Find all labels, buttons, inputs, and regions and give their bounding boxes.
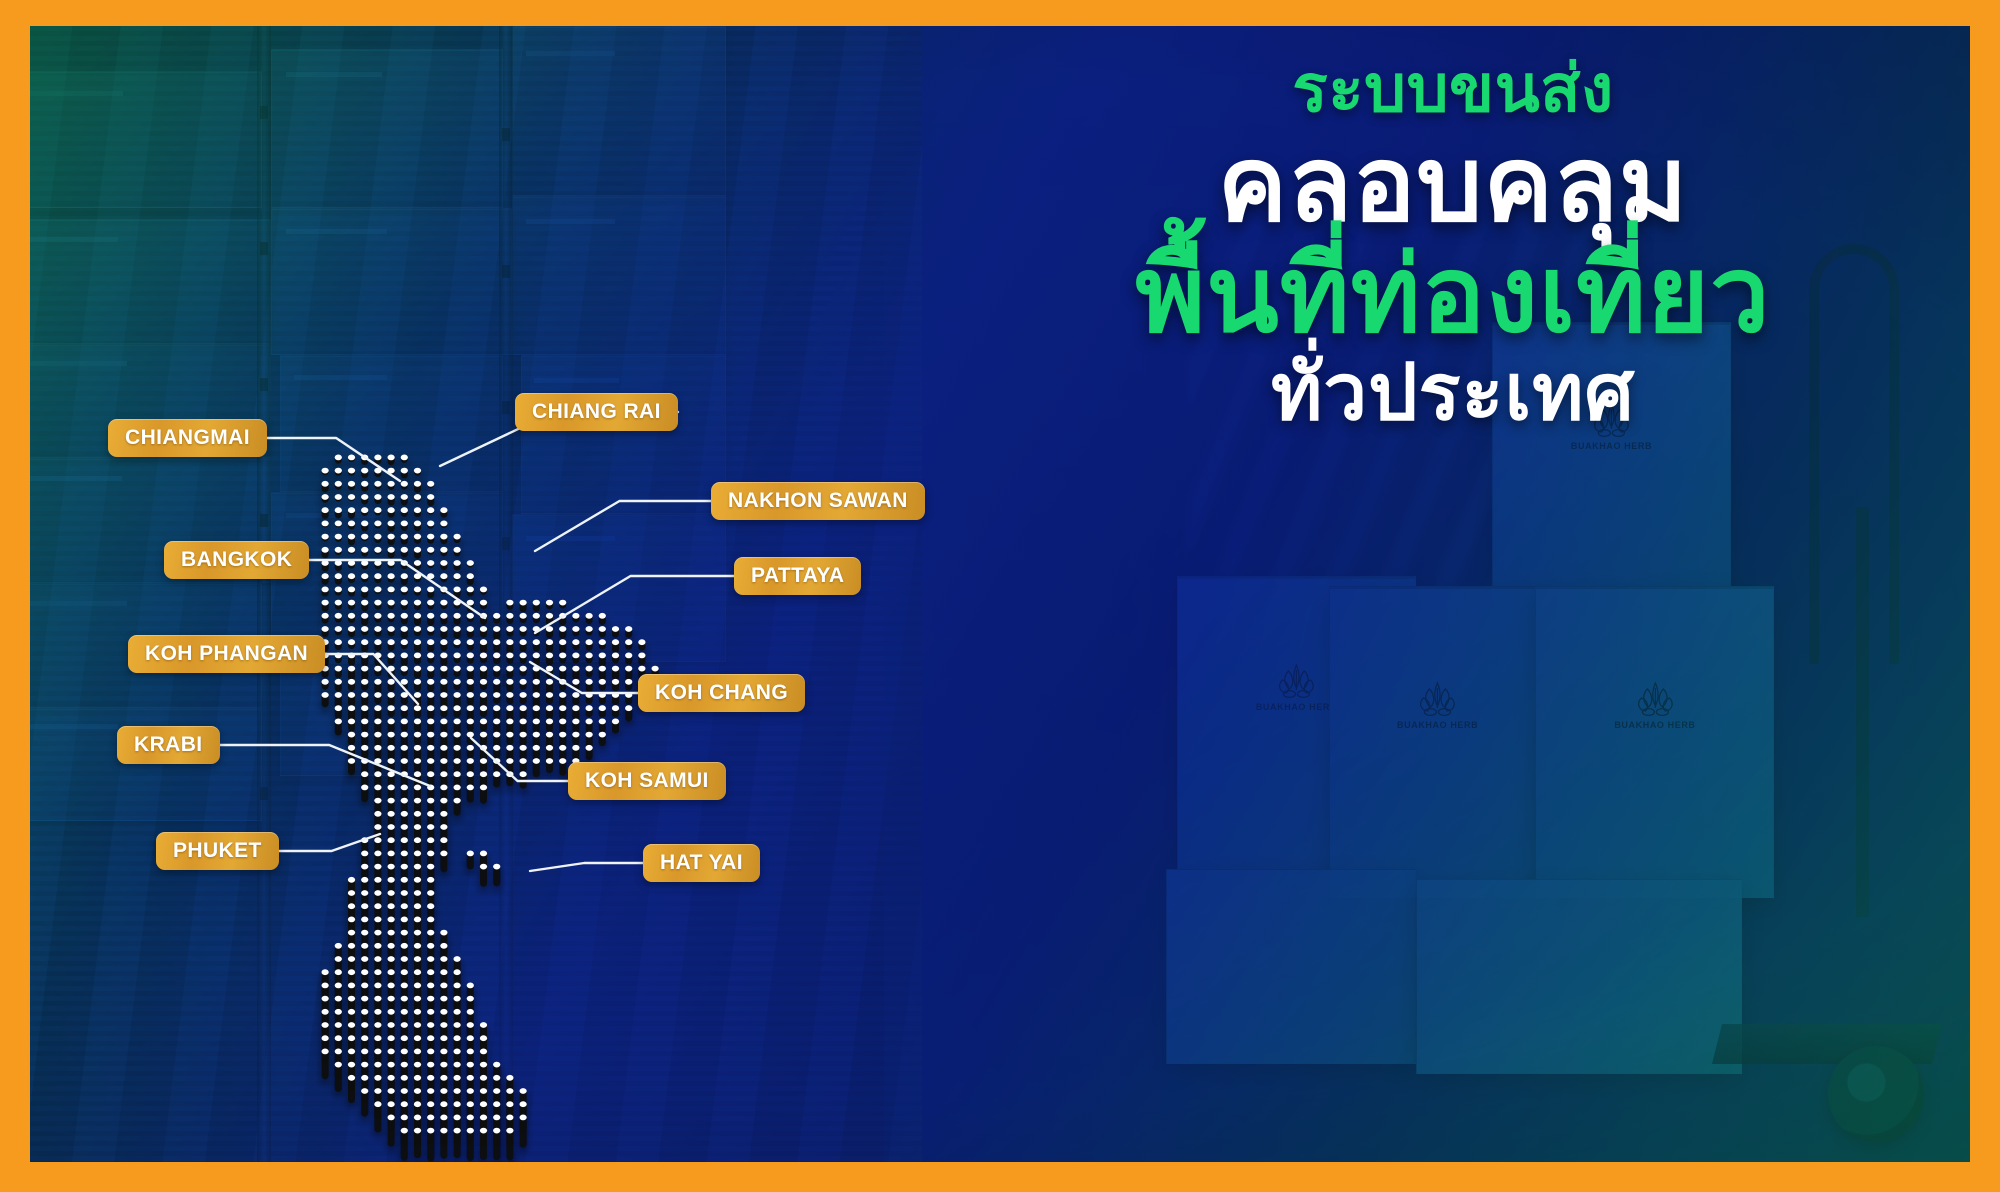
city-label-text: NAKHON SAWAN [728,489,908,513]
city-label-chiangmai[interactable]: CHIANGMAI [108,419,267,457]
poster-canvas: BUAKHAO HERB [30,26,1970,1162]
city-label-nakhon-sawan[interactable]: NAKHON SAWAN [711,482,925,520]
city-label-text: CHIANGMAI [125,426,250,450]
city-label-text: KOH PHANGAN [145,642,308,666]
city-label-text: BANGKOK [181,548,292,572]
city-label-krabi[interactable]: KRABI [117,726,220,764]
city-label-text: PATTAYA [751,564,844,588]
city-label-text: KRABI [134,733,203,757]
city-label-text: PHUKET [173,839,262,863]
headline-line-4: ทั่วประเทศ [988,354,1918,432]
city-label-pattaya[interactable]: PATTAYA [734,557,861,595]
headline-block: ระบบขนส่ง คลอบคลุม พื้นที่ท่องเที่ยว ทั่… [988,56,1918,432]
headline-line-3: พื้นที่ท่องเที่ยว [988,242,1918,348]
city-label-koh-samui[interactable]: KOH SAMUI [568,762,726,800]
city-label-text: KOH SAMUI [585,769,709,793]
city-label-chiang-rai[interactable]: CHIANG RAI [515,393,678,431]
city-label-text: KOH CHANG [655,681,788,705]
city-label-koh-chang[interactable]: KOH CHANG [638,674,805,712]
city-label-text: HAT YAI [660,851,743,875]
city-label-phuket[interactable]: PHUKET [156,832,279,870]
poster-frame: BUAKHAO HERB [0,0,2000,1192]
city-label-hat-yai[interactable]: HAT YAI [643,844,760,882]
city-label-koh-phangan[interactable]: KOH PHANGAN [128,635,325,673]
city-label-bangkok[interactable]: BANGKOK [164,541,309,579]
headline-line-2: คลอบคลุม [988,132,1918,236]
headline-line-1: ระบบขนส่ง [988,56,1918,122]
city-label-text: CHIANG RAI [532,400,661,424]
